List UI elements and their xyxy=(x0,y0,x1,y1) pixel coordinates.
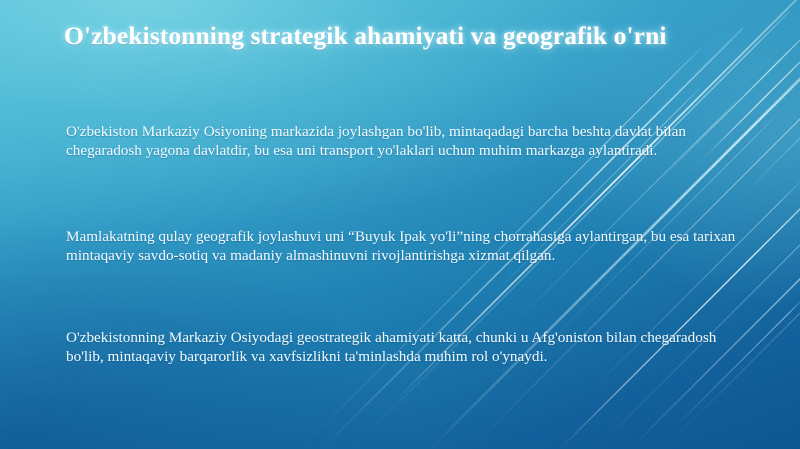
page-title: O'zbekistonning strategik ahamiyati va g… xyxy=(64,21,770,51)
body-paragraph-1: O'zbekiston Markaziy Osiyoning markazida… xyxy=(66,123,738,160)
presentation-slide: O'zbekistonning strategik ahamiyati va g… xyxy=(0,0,800,449)
slide-content: O'zbekistonning strategik ahamiyati va g… xyxy=(0,0,800,449)
body-paragraph-2: Mamlakatning qulay geografik joylashuvi … xyxy=(66,228,738,265)
body-paragraph-3: O'zbekistonning Markaziy Osiyodagi geost… xyxy=(66,329,738,366)
